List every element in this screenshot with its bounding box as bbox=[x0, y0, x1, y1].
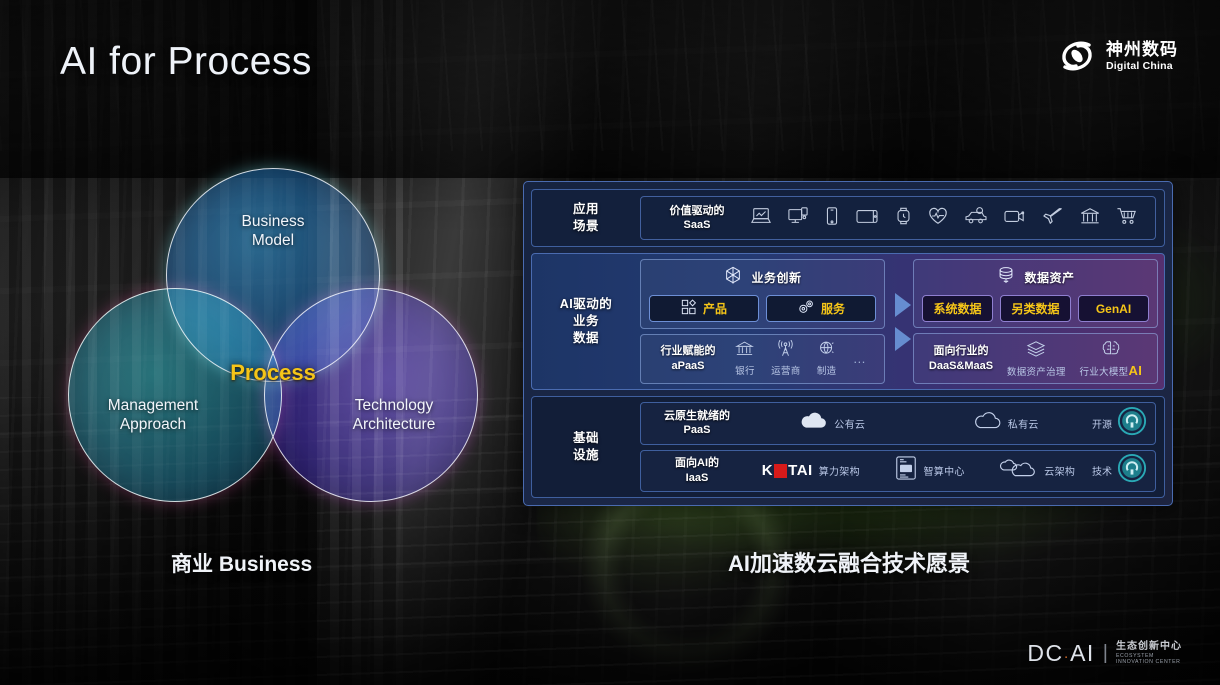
data-assets-box: 数据资产 系统数据 另类数据 GenAI bbox=[913, 259, 1158, 328]
chip-alternative-data-label: 另类数据 bbox=[1011, 300, 1059, 317]
applications-saas-title: 价值驱动的 SaaS bbox=[651, 204, 743, 233]
laptop-chart-icon bbox=[750, 206, 772, 231]
data-assets-title: 数据资产 bbox=[1024, 269, 1074, 286]
iaas-item-ai-center-label: 智算中心 bbox=[924, 463, 965, 478]
daas-maas-title: 面向行业的 DaaS&MaaS bbox=[922, 344, 1000, 373]
bank-icon bbox=[1079, 206, 1101, 231]
business-innovation-box: 业务创新 产品 bbox=[640, 259, 885, 329]
chip-genai[interactable]: GenAI bbox=[1078, 295, 1149, 322]
logo-text-en: Digital China bbox=[1106, 61, 1178, 72]
band-infra-label-line2: 设施 bbox=[573, 448, 599, 462]
apaas-item-manufacturing-label: 制造 bbox=[817, 363, 837, 377]
chip-system-data[interactable]: 系统数据 bbox=[922, 295, 993, 322]
gear-globe-icon bbox=[817, 340, 836, 362]
smartwatch-icon bbox=[894, 206, 913, 231]
dc-ai-divider: | bbox=[1103, 642, 1108, 665]
dc-ai-footer-logo: DC·AI | 生态创新中心 ECOSYSTEM INNOVATION CENT… bbox=[1027, 640, 1182, 667]
daas-item-llm-text: 行业大模型 bbox=[1079, 367, 1128, 378]
kutai-letters-tai: TAI bbox=[788, 462, 813, 479]
database-icon bbox=[996, 265, 1016, 290]
multi-cloud-icon bbox=[998, 457, 1038, 484]
apaas-item-manufacturing: 制造 bbox=[817, 340, 837, 377]
chip-products-label: 产品 bbox=[703, 300, 727, 317]
band-ai-driven-business-data: AI驱动的 业务 数据 bbox=[531, 253, 1165, 390]
iaas-item-cloud-arch-label: 云架构 bbox=[1044, 463, 1075, 478]
band-applications-label-line2: 场景 bbox=[573, 219, 599, 233]
chip-genai-label: GenAI bbox=[1096, 302, 1131, 316]
digital-china-logo: 神州数码 Digital China bbox=[1057, 36, 1178, 76]
iaas-title: 面向AI的 IaaS bbox=[649, 456, 745, 485]
shapes-icon bbox=[681, 299, 697, 318]
venn-diagram: Business Model Management Approach Techn… bbox=[68, 168, 458, 513]
applications-box: 价值驱动的 SaaS bbox=[640, 196, 1156, 240]
venn-circle-business bbox=[166, 168, 380, 382]
heart-pulse-icon bbox=[927, 206, 949, 231]
daas-item-llm-ai-suffix: AI bbox=[1129, 363, 1143, 378]
data-assets-chips: 系统数据 另类数据 GenAI bbox=[922, 295, 1149, 322]
apaas-item-bank-label: 银行 bbox=[735, 363, 755, 377]
airplane-icon bbox=[1042, 206, 1064, 231]
apaas-more-indicator: … bbox=[853, 351, 868, 366]
page-title: AI for Process bbox=[60, 40, 312, 84]
apaas-item-bank: 银行 bbox=[735, 340, 755, 377]
dc-ai-subtitle-cn: 生态创新中心 bbox=[1116, 641, 1182, 652]
paas-item-private-cloud: 私有云 bbox=[972, 411, 1039, 436]
apaas-title-line2: aPaaS bbox=[671, 360, 704, 372]
band-ai-label-line3: 数据 bbox=[573, 331, 599, 345]
apaas-title: 行业赋能的 aPaaS bbox=[649, 344, 727, 373]
open-source-circle-icon bbox=[1117, 453, 1147, 488]
dc-ai-wordmark: DC·AI bbox=[1027, 640, 1094, 667]
infrastructure-rows: 云原生就绪的 PaaS 公有云 私有云 bbox=[640, 397, 1164, 497]
chip-services[interactable]: 服务 bbox=[766, 295, 876, 322]
ai-server-icon: AI bbox=[894, 455, 918, 486]
paas-title: 云原生就绪的 PaaS bbox=[649, 409, 745, 438]
business-innovation-header: 业务创新 bbox=[649, 265, 876, 290]
daas-item-governance: 数据资产治理 bbox=[1007, 340, 1066, 378]
apaas-industry-items: 银行 运营商 制造 … bbox=[727, 340, 876, 377]
business-innovation-chips: 产品 服务 bbox=[649, 295, 876, 322]
band-applications: 应用 场景 价值驱动的 SaaS bbox=[531, 189, 1165, 247]
tablet-icon bbox=[855, 206, 879, 231]
dc-ai-ai: AI bbox=[1070, 640, 1095, 666]
chip-system-data-label: 系统数据 bbox=[933, 300, 981, 317]
daas-item-industry-llm: 行业大模型AI bbox=[1079, 339, 1142, 378]
band-infrastructure-body: 云原生就绪的 PaaS 公有云 私有云 bbox=[640, 397, 1164, 497]
paas-title-line1: 云原生就绪的 bbox=[664, 410, 730, 422]
iaas-end-label: 技术 bbox=[1092, 463, 1112, 478]
iaas-items: KTAI 算力架构 AI 智算中心 云架构 bbox=[745, 455, 1092, 486]
svg-text:AI: AI bbox=[902, 466, 909, 473]
iaas-item-compute: KTAI 算力架构 bbox=[762, 462, 860, 479]
iaas-title-line2: IaaS bbox=[686, 472, 709, 484]
daas-maas-title-line1: 面向行业的 bbox=[934, 345, 989, 357]
double-chevron-right-icon bbox=[889, 287, 915, 357]
band-infrastructure: 基础 设施 云原生就绪的 PaaS 公有 bbox=[531, 396, 1165, 498]
antenna-icon bbox=[776, 340, 795, 362]
video-camera-icon bbox=[1003, 206, 1027, 231]
iaas-item-cloud-arch: 云架构 bbox=[998, 457, 1075, 484]
car-icon bbox=[964, 206, 988, 231]
infra-row-paas: 云原生就绪的 PaaS 公有云 私有云 bbox=[640, 402, 1156, 445]
paas-item-private-cloud-label: 私有云 bbox=[1008, 416, 1039, 431]
dc-ai-subtitle-en2: INNOVATION CENTER bbox=[1116, 660, 1182, 666]
swirl-icon bbox=[1057, 36, 1097, 76]
kutai-red-square bbox=[774, 464, 787, 478]
apaas-title-line1: 行业赋能的 bbox=[661, 345, 716, 357]
caption-ai-vision: AI加速数云融合技术愿景 bbox=[728, 546, 970, 578]
gears-icon bbox=[797, 299, 815, 318]
dc-ai-subtitle: 生态创新中心 ECOSYSTEM INNOVATION CENTER bbox=[1116, 641, 1182, 665]
apaas-box: 行业赋能的 aPaaS 银行 运营商 bbox=[640, 334, 885, 385]
kutai-letter-k: K bbox=[762, 462, 773, 479]
smartphone-icon bbox=[824, 206, 840, 231]
infra-row-iaas: 面向AI的 IaaS KTAI 算力架构 AI 智算中心 bbox=[640, 450, 1156, 493]
bank-icon bbox=[735, 340, 754, 362]
brain-icon bbox=[1100, 339, 1122, 362]
band-ai-label-line1: AI驱动的 bbox=[560, 297, 613, 311]
paas-end-badge: 开源 bbox=[1092, 406, 1147, 441]
apaas-item-operator-label: 运营商 bbox=[771, 363, 800, 377]
band-ai-label-line2: 业务 bbox=[573, 314, 599, 328]
business-innovation-column: 业务创新 产品 bbox=[640, 259, 885, 384]
daas-maas-box: 面向行业的 DaaS&MaaS 数据资产治理 行业大模型A bbox=[913, 333, 1158, 384]
business-innovation-title: 业务创新 bbox=[751, 269, 801, 286]
cloud-filled-icon bbox=[798, 411, 828, 436]
shopping-cart-icon bbox=[1116, 206, 1138, 231]
slide-root: AI for Process 神州数码 Digital China Busine… bbox=[0, 0, 1220, 685]
paas-item-public-cloud: 公有云 bbox=[798, 411, 865, 436]
band-ai-driven-body: 业务创新 产品 bbox=[640, 254, 1164, 389]
band-infrastructure-label: 基础 设施 bbox=[532, 397, 640, 497]
daas-item-governance-label: 数据资产治理 bbox=[1007, 364, 1066, 378]
iaas-item-compute-label: 算力架构 bbox=[819, 463, 860, 478]
architecture-panel: 应用 场景 价值驱动的 SaaS bbox=[523, 181, 1173, 506]
daas-maas-items: 数据资产治理 行业大模型AI bbox=[1000, 339, 1149, 378]
iaas-title-line1: 面向AI的 bbox=[675, 457, 719, 469]
cube-network-icon bbox=[723, 265, 743, 290]
dc-ai-dc: DC bbox=[1027, 640, 1063, 666]
desktop-monitor-icon bbox=[787, 206, 809, 231]
applications-saas-line2: SaaS bbox=[684, 219, 711, 231]
layered-data-icon bbox=[1025, 340, 1047, 363]
daas-maas-title-line2: DaaS&MaaS bbox=[929, 360, 993, 372]
iaas-item-ai-center: AI 智算中心 bbox=[894, 455, 965, 486]
paas-items: 公有云 私有云 bbox=[745, 411, 1092, 436]
band-applications-label: 应用 场景 bbox=[532, 190, 640, 246]
open-source-circle-icon bbox=[1117, 406, 1147, 441]
caption-business: 商业 Business bbox=[171, 548, 312, 578]
kutai-logo: KTAI bbox=[762, 462, 813, 479]
logo-text-cn: 神州数码 bbox=[1106, 41, 1178, 58]
applications-icon-row bbox=[743, 206, 1145, 231]
daas-item-industry-llm-label: 行业大模型AI bbox=[1079, 363, 1142, 378]
paas-item-public-cloud-label: 公有云 bbox=[834, 416, 865, 431]
ai-driven-columns: 业务创新 产品 bbox=[640, 254, 1164, 389]
applications-saas-line1: 价值驱动的 bbox=[670, 205, 725, 217]
cloud-outline-icon bbox=[972, 411, 1002, 436]
band-infra-label-line1: 基础 bbox=[573, 431, 599, 445]
band-ai-driven-label: AI驱动的 业务 数据 bbox=[532, 254, 640, 389]
digital-china-wordmark: 神州数码 Digital China bbox=[1106, 41, 1178, 72]
paas-title-line2: PaaS bbox=[684, 424, 711, 436]
chip-alternative-data[interactable]: 另类数据 bbox=[1000, 295, 1071, 322]
data-assets-column: 数据资产 系统数据 另类数据 GenAI bbox=[913, 259, 1158, 384]
data-assets-header: 数据资产 bbox=[922, 265, 1149, 290]
paas-end-label: 开源 bbox=[1092, 416, 1112, 431]
band-applications-body: 价值驱动的 SaaS bbox=[640, 190, 1164, 246]
band-applications-label-line1: 应用 bbox=[573, 202, 599, 216]
chip-products[interactable]: 产品 bbox=[649, 295, 759, 322]
apaas-item-operator: 运营商 bbox=[771, 340, 800, 377]
iaas-end-badge: 技术 bbox=[1092, 453, 1147, 488]
chip-services-label: 服务 bbox=[821, 300, 845, 317]
